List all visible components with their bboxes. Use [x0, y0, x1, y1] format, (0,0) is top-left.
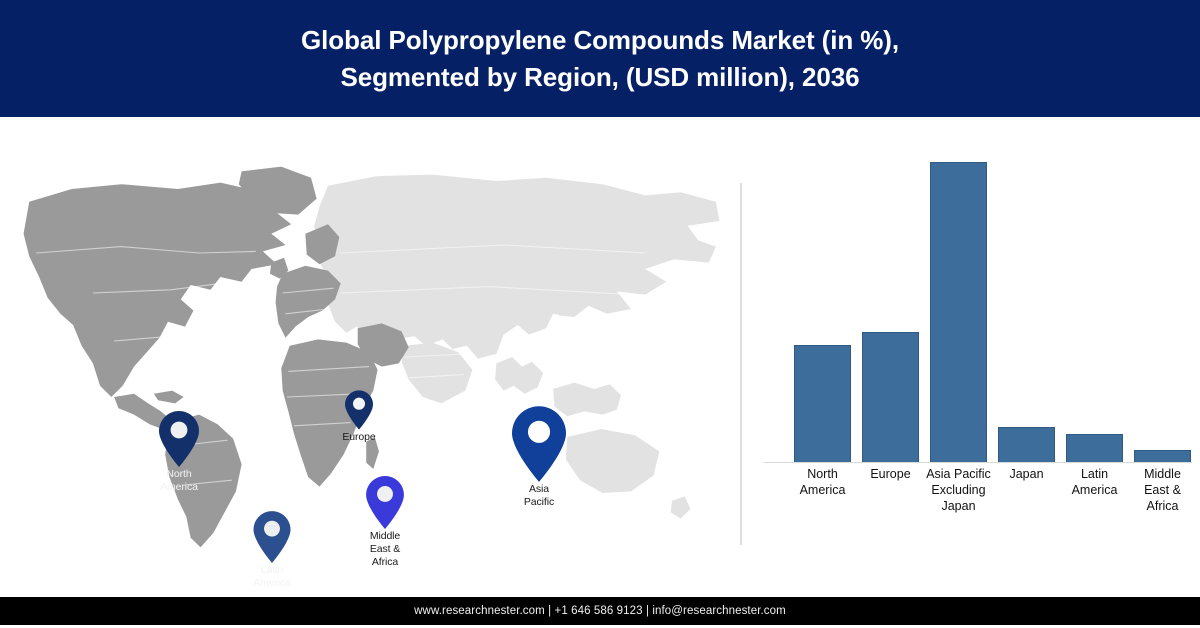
bar-fill: [998, 427, 1055, 463]
bar-fill: [930, 162, 987, 463]
bar-label-asia-pacific-excluding-japan: Asia Pacific Excluding Japan: [924, 466, 993, 514]
bar-label-latin-america: Latin America: [1060, 466, 1129, 498]
map-marker-north-america[interactable]: North America: [159, 411, 199, 467]
bar-chart-plot: [768, 147, 1200, 463]
bar-fill: [862, 332, 919, 463]
map-marker-europe[interactable]: Europe: [345, 390, 373, 430]
bar-label-north-america: North America: [788, 466, 857, 498]
bar-label-japan: Japan: [992, 466, 1061, 482]
map-marker-label-latin-america: Latin America: [253, 564, 291, 590]
location-pin-icon: [254, 511, 291, 563]
southeast-asia-shape: [495, 357, 543, 394]
header-banner: Global Polypropylene Compounds Market (i…: [0, 0, 1200, 117]
bar-label-middle-east-africa: Middle East & Africa: [1128, 466, 1197, 514]
bar-asia-pacific-excluding-japan[interactable]: [930, 162, 987, 463]
caribbean-shape: [154, 391, 184, 404]
page-title: Global Polypropylene Compounds Market (i…: [261, 22, 939, 96]
australia-shape: [566, 429, 659, 493]
content-area: North America Europe Asia Pa: [0, 117, 1200, 597]
chart-axis-baseline: [764, 462, 1192, 463]
bar-fill: [1066, 434, 1123, 463]
location-pin-icon: [366, 476, 404, 529]
bar-label-europe: Europe: [856, 466, 925, 482]
footer-bar: www.researchnester.com | +1 646 586 9123…: [0, 597, 1200, 625]
india-shape: [402, 343, 473, 404]
footer-contact-text: www.researchnester.com | +1 646 586 9123…: [414, 605, 786, 617]
location-pin-icon: [159, 411, 199, 467]
map-marker-label-asia-pacific: Asia Pacific: [524, 483, 554, 509]
location-pin-icon: [345, 390, 373, 430]
new-zealand-shape: [671, 496, 691, 518]
bar-fill: [1134, 450, 1191, 463]
bar-middle-east-africa[interactable]: [1134, 450, 1191, 463]
map-marker-middle-east-africa[interactable]: Middle East & Africa: [366, 476, 404, 529]
map-marker-label-north-america: North America: [160, 468, 198, 494]
bar-europe[interactable]: [862, 332, 919, 463]
bar-fill: [794, 345, 851, 464]
map-marker-label-europe: Europe: [342, 431, 375, 444]
map-marker-label-middle-east-africa: Middle East & Africa: [370, 530, 400, 568]
world-map: North America Europe Asia Pa: [8, 157, 723, 557]
bar-japan[interactable]: [998, 427, 1055, 463]
map-marker-latin-america[interactable]: Latin America: [254, 511, 291, 563]
map-marker-asia-pacific[interactable]: Asia Pacific: [512, 406, 566, 482]
infographic-page: Global Polypropylene Compounds Market (i…: [0, 0, 1200, 628]
bar-chart-panel: North AmericaEuropeAsia Pacific Excludin…: [740, 117, 1200, 597]
bar-north-america[interactable]: [794, 345, 851, 464]
location-pin-icon: [512, 406, 566, 482]
europe-shape: [276, 266, 341, 338]
bar-latin-america[interactable]: [1066, 434, 1123, 463]
map-panel: North America Europe Asia Pa: [0, 117, 730, 597]
